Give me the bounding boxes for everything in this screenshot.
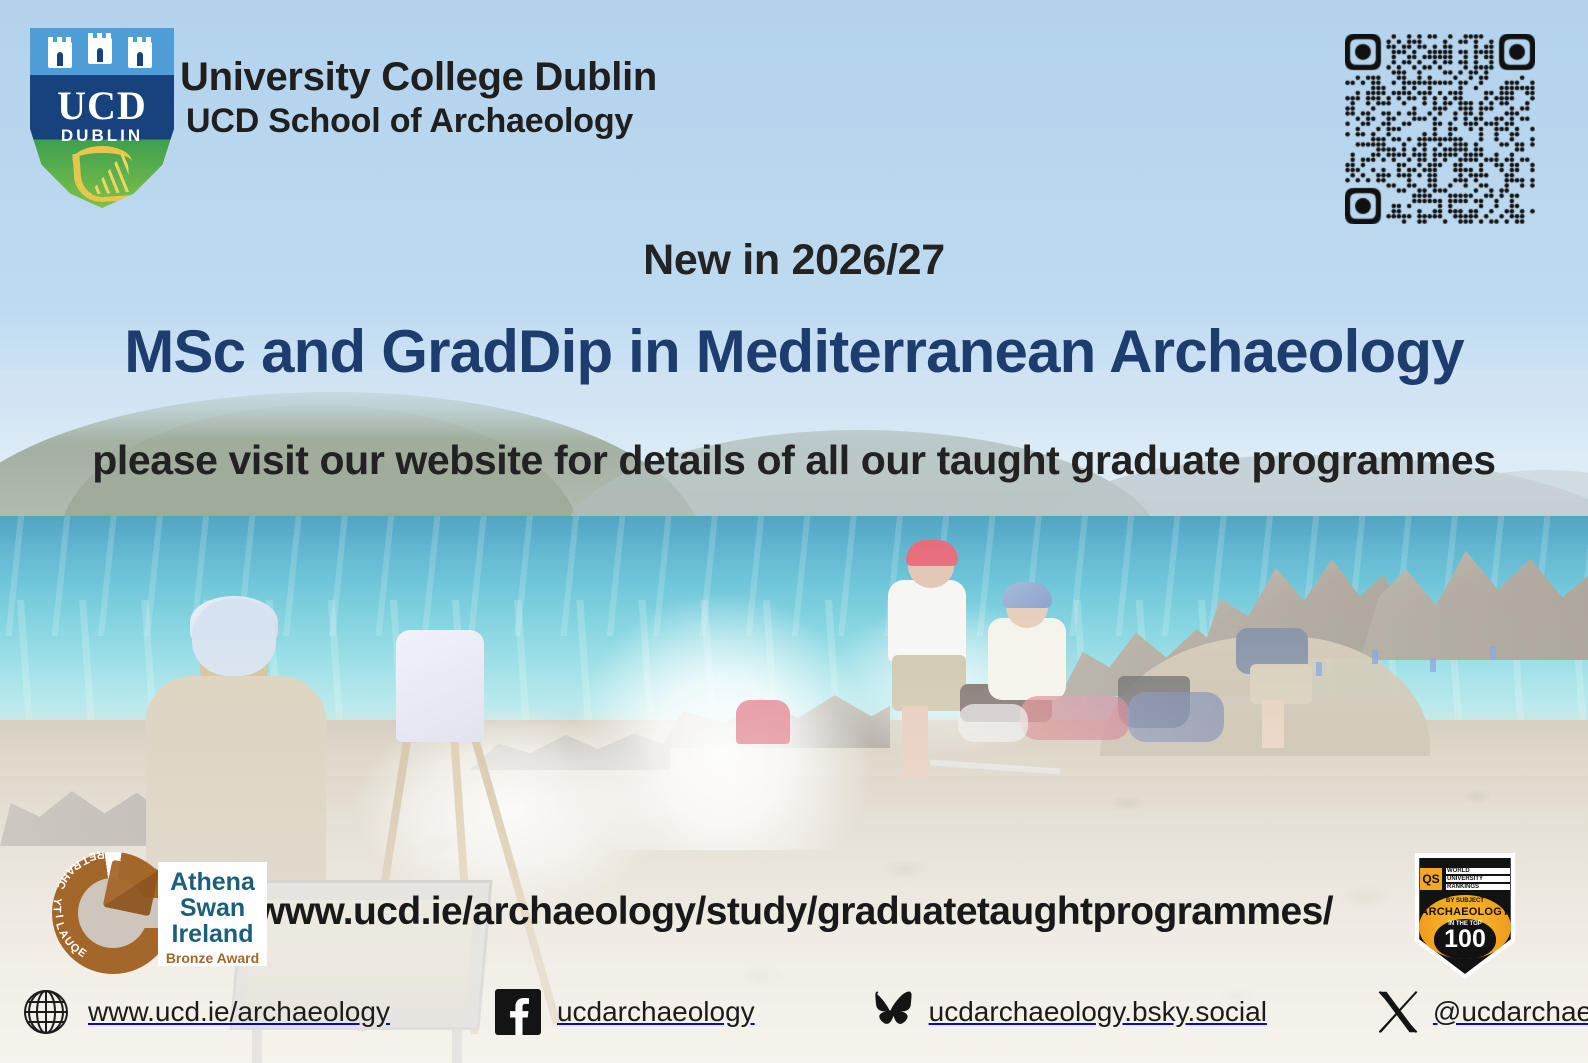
qs-mark: QS [1420, 868, 1442, 890]
athena-line-3: Ireland [164, 921, 261, 947]
social-footer-bar: www.ucd.ie/archaeology ucdarchaeology uc… [0, 982, 1588, 1042]
globe-icon [22, 988, 70, 1036]
social-link-facebook[interactable]: ucdarchaeology [495, 989, 755, 1035]
qs-bar-rankings: RANKINGS [1446, 884, 1510, 890]
facebook-icon [495, 989, 541, 1035]
eyebrow-text: New in 2026/27 [0, 236, 1588, 285]
crest-turret-icon [48, 42, 72, 68]
equality-charter-char: Y [50, 896, 63, 905]
equality-charter-text: EQUALITYCHARTER [52, 852, 174, 974]
page-title: MSc and GradDip in Mediterranean Archaeo… [0, 317, 1588, 386]
qs-logo-lockup: QS WORLD UNIVERSITY RANKINGS [1420, 865, 1510, 893]
school-name: UCD School of Archaeology [180, 101, 657, 142]
social-label-x: @ucdarchaeology [1433, 996, 1588, 1028]
photo-person-standing [888, 580, 966, 662]
athena-line-2: Swan [164, 895, 261, 921]
qs-ranking-badge: QS WORLD UNIVERSITY RANKINGS BY SUBJECT … [1408, 853, 1522, 979]
photo-wave-spray [820, 560, 1140, 780]
qs-subject: ARCHAEOLOGY [1408, 906, 1522, 918]
photo-person-seated [988, 618, 1066, 700]
crest-harp-icon [72, 150, 131, 204]
qr-code-canvas[interactable] [1345, 34, 1535, 224]
social-label-website: www.ucd.ie/archaeology [88, 996, 390, 1028]
athena-swan-lockup: Athena Swan Ireland Bronze Award [158, 862, 267, 966]
social-link-x[interactable]: @ucdarchaeology [1377, 990, 1588, 1034]
photo-person-digging [1262, 700, 1284, 748]
ucd-crest-icon[interactable]: UCD DUBLIN [30, 28, 174, 208]
equality-charter-char: I [53, 914, 65, 919]
subtitle-text: please visit our website for details of … [0, 437, 1588, 484]
social-link-website[interactable]: www.ucd.ie/archaeology [22, 988, 390, 1036]
qs-bar-university: UNIVERSITY [1446, 876, 1510, 882]
photo-equipment-pile [958, 704, 1028, 742]
bluesky-icon [867, 991, 913, 1033]
photo-survey-flag [1372, 650, 1378, 664]
photo-person-sieving [192, 598, 276, 676]
social-link-bluesky[interactable]: ucdarchaeology.bsky.social [867, 991, 1267, 1033]
qr-code-icon[interactable] [1345, 34, 1535, 224]
brand-wordmark: University College Dublin UCD School of … [180, 55, 657, 142]
qs-by-subject: BY SUBJECT [1408, 898, 1522, 904]
crest-initials: UCD [30, 82, 174, 129]
athena-line-1: Athena [164, 869, 261, 895]
poster-root: UCD DUBLIN University College Dublin UCD… [0, 0, 1588, 1063]
photo-survey-flag [1316, 662, 1322, 676]
photo-blue-bandana [1002, 582, 1052, 608]
social-label-bluesky: ucdarchaeology.bsky.social [929, 996, 1267, 1028]
university-name: University College Dublin [180, 55, 657, 101]
photo-person-crouching [736, 700, 790, 744]
athena-award-level: Bronze Award [164, 950, 261, 966]
qs-year: 2025 [1408, 954, 1522, 965]
photo-instrument-cover [396, 630, 484, 742]
x-twitter-icon [1377, 990, 1419, 1034]
athena-swan-badge: EQUALITYCHARTER Athena Swan Ireland Bron… [52, 852, 267, 978]
photo-person-standing [892, 655, 966, 711]
photo-equipment-pile [1128, 692, 1224, 742]
photo-red-bandana [906, 540, 958, 566]
photo-person-digging [1250, 664, 1312, 704]
qs-bar-world: WORLD [1446, 868, 1510, 874]
crest-shield: UCD DUBLIN [30, 28, 174, 208]
photo-equipment-pile [1020, 696, 1130, 740]
crest-subtitle: DUBLIN [30, 126, 174, 146]
equality-charter-char: T [51, 906, 63, 913]
photo-person-standing [902, 706, 928, 778]
social-label-facebook: ucdarchaeology [557, 996, 755, 1028]
photo-survey-flag [1490, 646, 1496, 660]
crest-turret-icon [88, 38, 112, 64]
crest-turret-icon [128, 42, 152, 68]
equality-charter-char: R [96, 848, 105, 861]
qs-rank-value: 100 [1408, 927, 1522, 952]
photo-survey-flag [1430, 658, 1436, 672]
